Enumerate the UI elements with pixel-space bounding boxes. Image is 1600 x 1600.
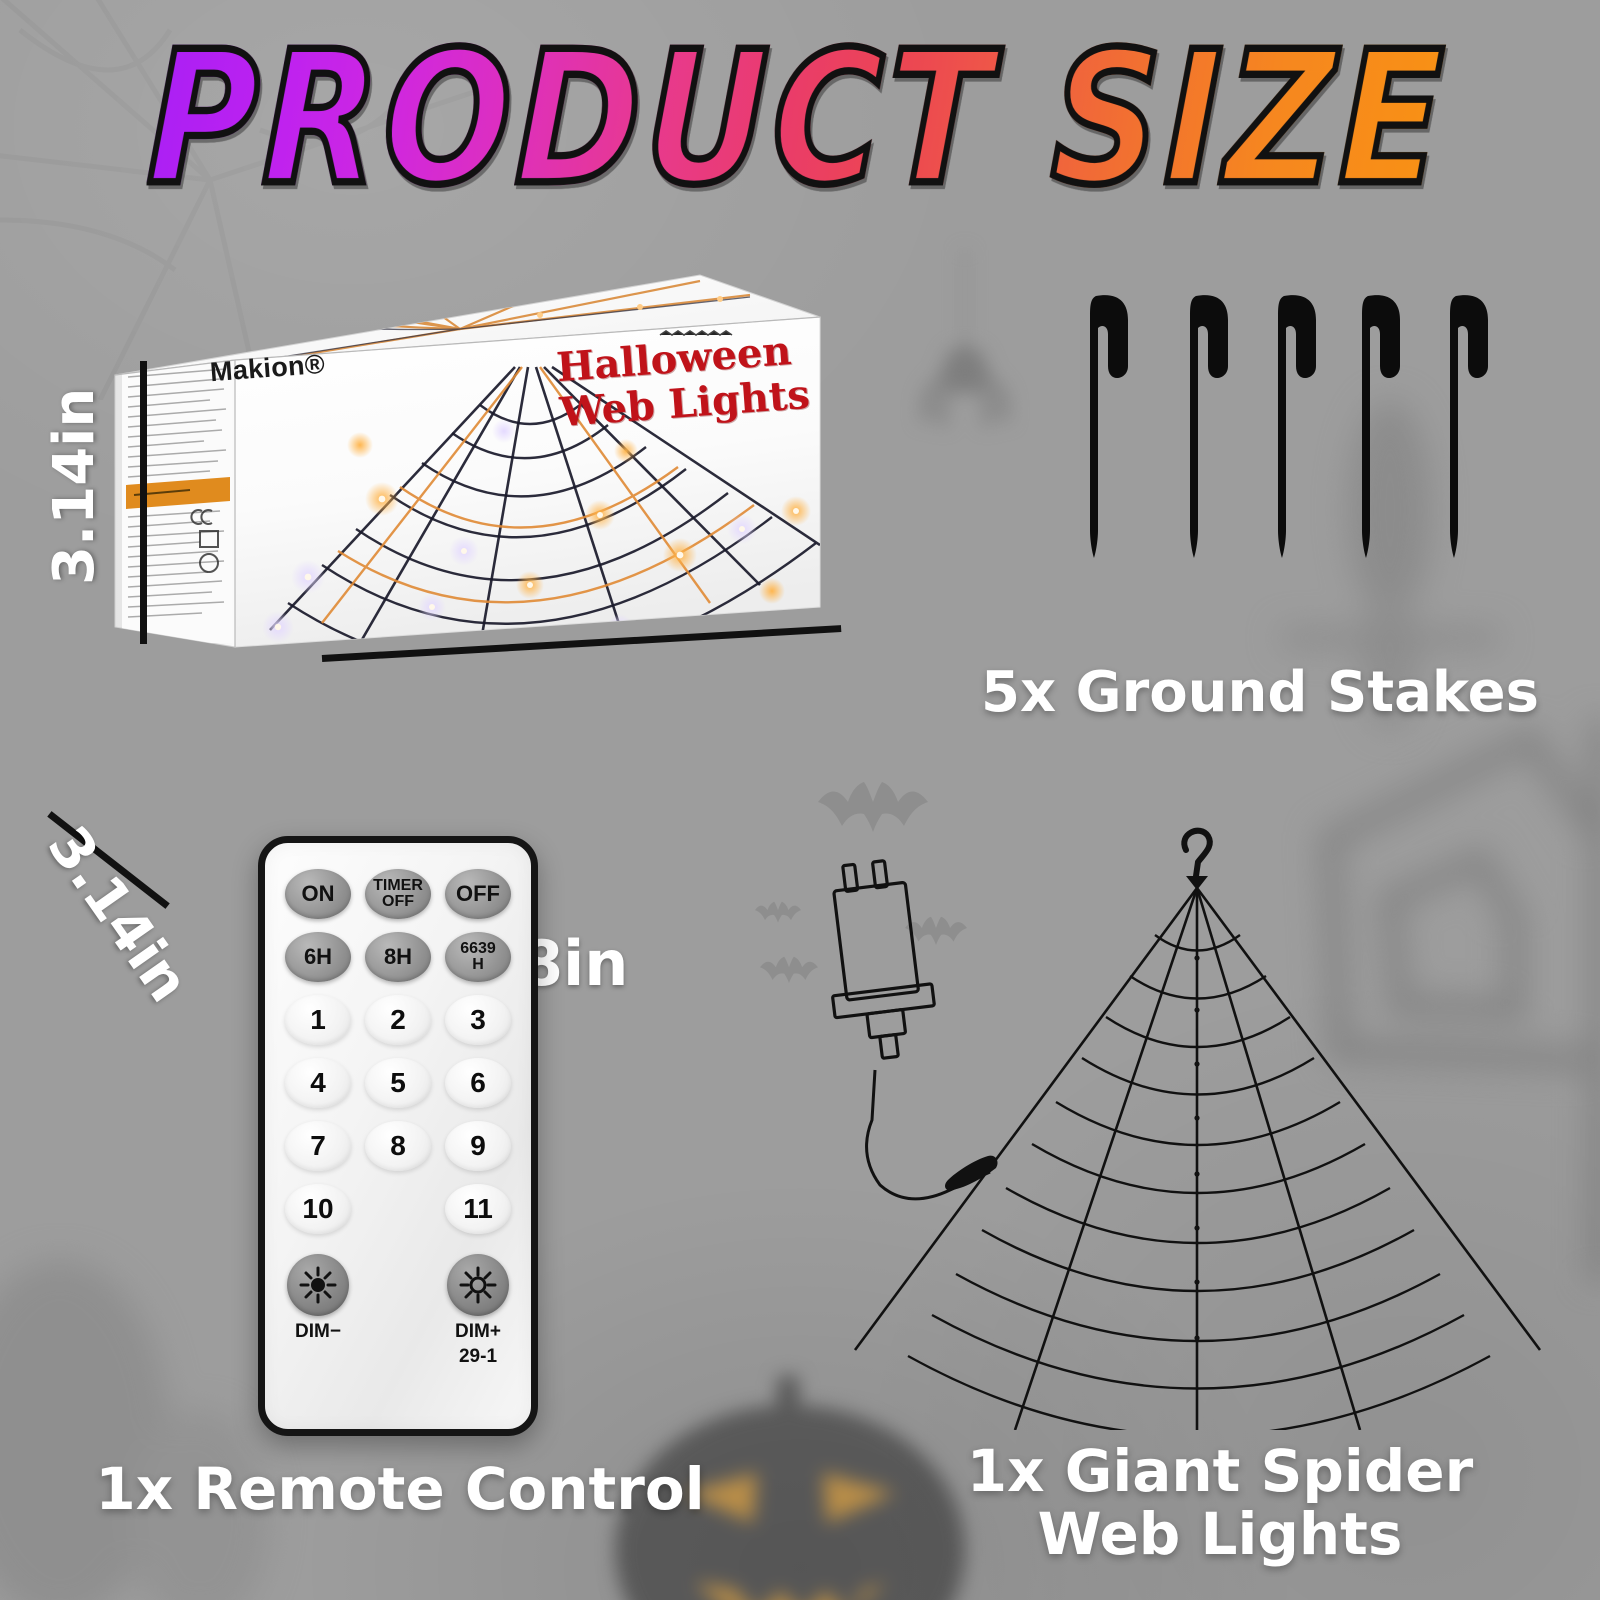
ground-stakes-label: 5x Ground Stakes [920,660,1600,725]
remote-model-code: 29-1 [459,1346,497,1368]
remote-button-7[interactable]: 7 [285,1121,351,1171]
remote-row-power: ON TIMER OFF OFF [285,869,511,919]
remote-row-789: 7 8 9 [285,1121,511,1171]
remote-button-1[interactable]: 1 [285,995,351,1045]
remote-button-timer-off[interactable]: TIMER OFF [365,869,431,919]
remote-row-dim: DIM− DIM+ 29-1 [285,1254,511,1368]
remote-button-6h[interactable]: 6H [285,932,351,982]
box-product-name: Halloween Web Lights [555,328,811,436]
remote-button-10[interactable]: 10 [285,1184,351,1234]
spider-web-lights-label: 1x Giant Spider Web Lights [840,1440,1600,1565]
remote-button-11[interactable]: 11 [445,1184,511,1234]
remote-button-6[interactable]: 6 [445,1058,511,1108]
package-box-section: Makion® Halloween Web Lights 3.14in 3.14… [60,255,900,755]
sun-outline-icon [458,1265,498,1305]
remote-button-on[interactable]: ON [285,869,351,919]
remote-dim-minus-cell[interactable]: DIM− [285,1254,351,1343]
spider-web-lights-section [800,790,1600,1430]
remote-button-9[interactable]: 9 [445,1121,511,1171]
remote-dim-minus-label: DIM− [295,1321,341,1343]
page-title-wrap: PRODUCT SIZE [0,28,1600,178]
remote-row-timers: 6H 8H 6639 H [285,932,511,982]
remote-row-10-11: 10 11 [285,1184,511,1234]
remote-button-spacer [365,1184,431,1234]
remote-control[interactable]: ON TIMER OFF OFF 6H 8H 6639 H 1 2 3 4 5 … [258,836,538,1436]
remote-button-dim-minus[interactable] [287,1254,349,1316]
remote-dim-plus-cell[interactable]: DIM+ 29-1 [445,1254,511,1368]
dimension-label-height: 3.14in [42,388,107,585]
page-title: PRODUCT SIZE [145,28,1449,211]
dimension-rule-height [140,361,147,644]
remote-button-4[interactable]: 4 [285,1058,351,1108]
remote-button-off[interactable]: OFF [445,869,511,919]
remote-button-2[interactable]: 2 [365,995,431,1045]
spider-web-lights-label-line2: Web Lights [840,1503,1600,1566]
remote-control-label: 1x Remote Control [20,1455,780,1523]
remote-button-8h[interactable]: 8H [365,932,431,982]
remote-button-3[interactable]: 3 [445,995,511,1045]
remote-dim-spacer [365,1254,431,1304]
remote-button-dim-plus[interactable] [447,1254,509,1316]
hook-icon [1184,831,1210,876]
remote-row-123: 1 2 3 [285,995,511,1045]
spider-web-illustration [800,790,1600,1430]
sun-filled-icon [298,1265,338,1305]
power-adapter-icon [817,857,940,1064]
remote-row-456: 4 5 6 [285,1058,511,1108]
remote-button-8[interactable]: 8 [365,1121,431,1171]
spider-web-lights-label-line1: 1x Giant Spider [840,1440,1600,1503]
remote-button-5[interactable]: 5 [365,1058,431,1108]
remote-button-6639h[interactable]: 6639 H [445,932,511,982]
ground-stakes-illustration [1020,290,1580,640]
remote-dim-plus-label: DIM+ [455,1321,501,1343]
package-box-illustration [60,255,900,675]
